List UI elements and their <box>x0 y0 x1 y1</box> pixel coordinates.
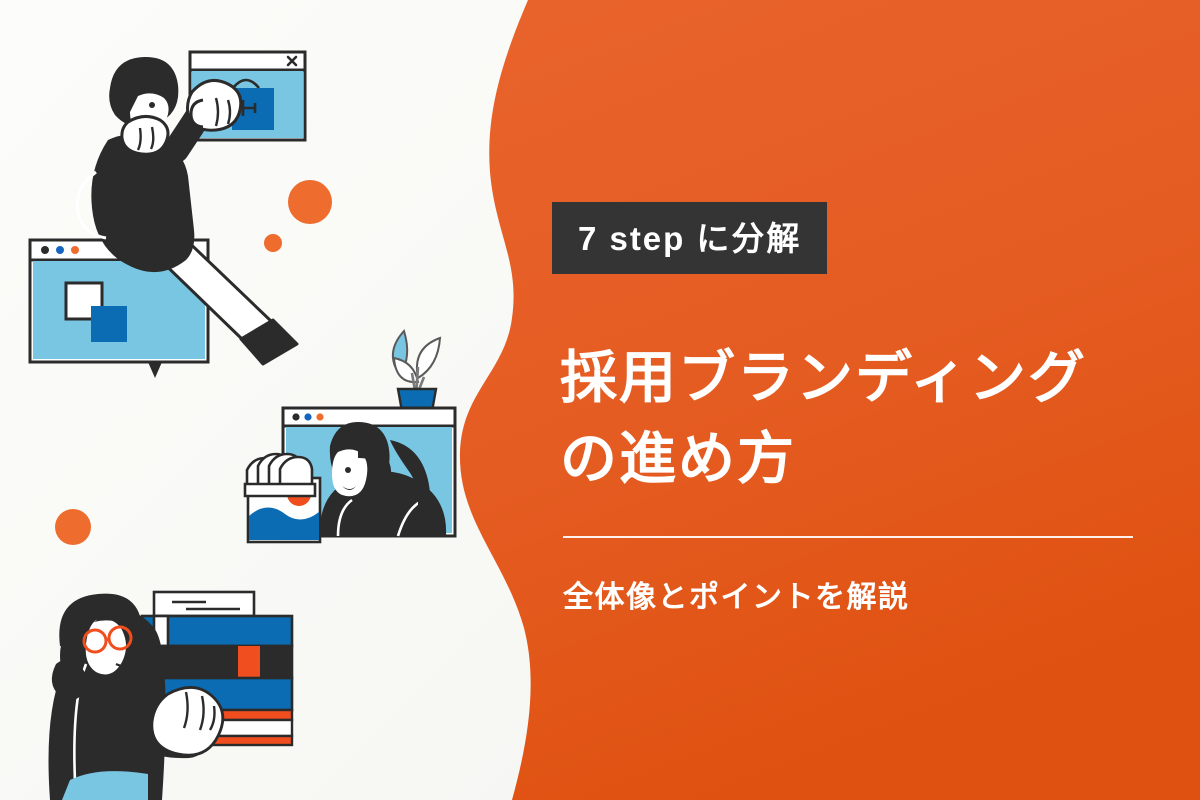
headline-line-2: の進め方 <box>560 419 1172 500</box>
browser-dot-blue <box>56 246 64 254</box>
browser-dot-orange <box>71 246 79 254</box>
orange-dot-small <box>264 234 282 252</box>
hand-holding-card <box>245 454 320 542</box>
subtitle: 全体像とポイントを解説 <box>563 578 910 617</box>
headline-line-1: 採用ブランディング <box>560 346 1087 410</box>
banner-canvas: 7 step に分解 採用ブランディング の進め方 全体像とポイントを解説 <box>0 0 1200 800</box>
orange-dot-large <box>288 180 332 224</box>
browser-dot-black <box>41 246 49 254</box>
eyebrow-label: 7 step に分解 <box>578 222 801 255</box>
eyebrow-badge: 7 step に分解 <box>552 202 827 274</box>
text-column: 7 step に分解 採用ブランディング の進め方 全体像とポイントを解説 <box>552 0 1172 800</box>
title-divider <box>563 536 1133 538</box>
woman-with-books <box>49 592 293 800</box>
orange-dot-medium <box>55 509 91 545</box>
fist <box>245 454 315 496</box>
page-title: 採用ブランディング の進め方 <box>560 338 1172 500</box>
